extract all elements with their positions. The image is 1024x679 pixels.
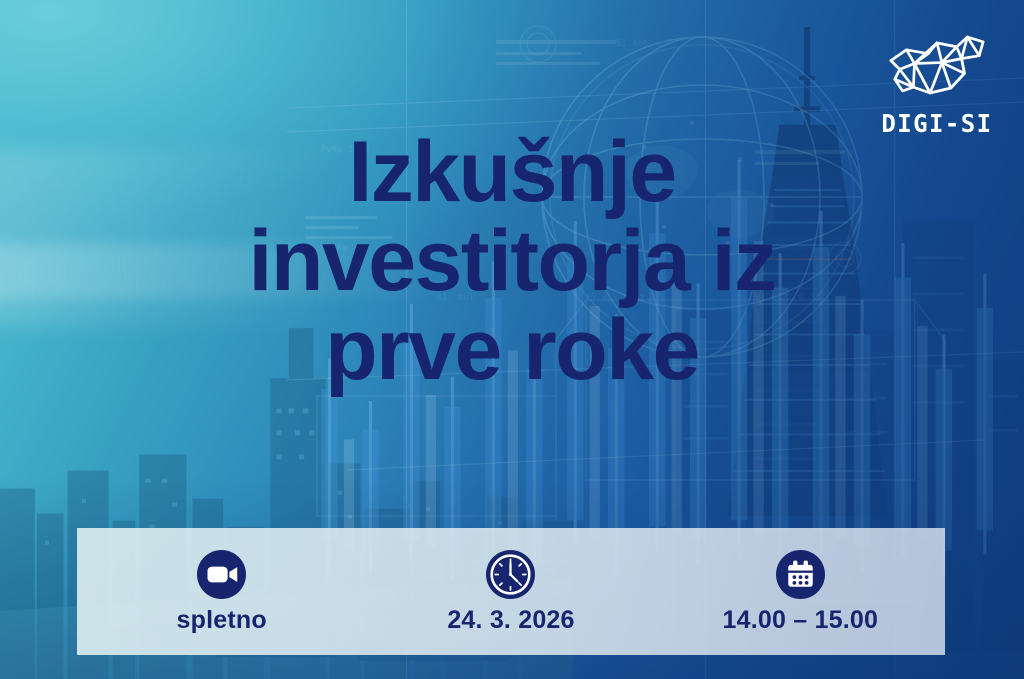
event-format-label: spletno	[177, 608, 267, 633]
brand-logo[interactable]: DIGI-SI	[878, 26, 996, 136]
page-title: Izkušnje investitorja iz prve roke	[0, 128, 1024, 395]
event-date-label: 24. 3. 2026	[447, 608, 574, 633]
slovenia-triangulated-map-icon	[883, 26, 991, 104]
event-detail-date: 24. 3. 2026	[366, 550, 655, 633]
calendar-icon	[776, 550, 825, 599]
video-camera-icon	[197, 550, 246, 599]
headline-line-3: prve roke	[40, 306, 984, 395]
event-time-label: 14.00 – 15.00	[723, 608, 879, 633]
event-detail-format: spletno	[77, 550, 366, 633]
event-detail-time: 14.00 – 15.00	[656, 550, 945, 633]
headline-line-2: investitorja iz	[40, 217, 984, 306]
event-details-bar: spletno	[77, 528, 945, 655]
event-banner: 51.466 Pv0a 31.8 0.0kw 41. sul PY 0 · kl…	[0, 0, 1024, 679]
headline-line-1: Izkušnje	[40, 128, 984, 217]
brand-name: DIGI-SI	[881, 111, 992, 136]
clock-icon	[486, 550, 535, 599]
